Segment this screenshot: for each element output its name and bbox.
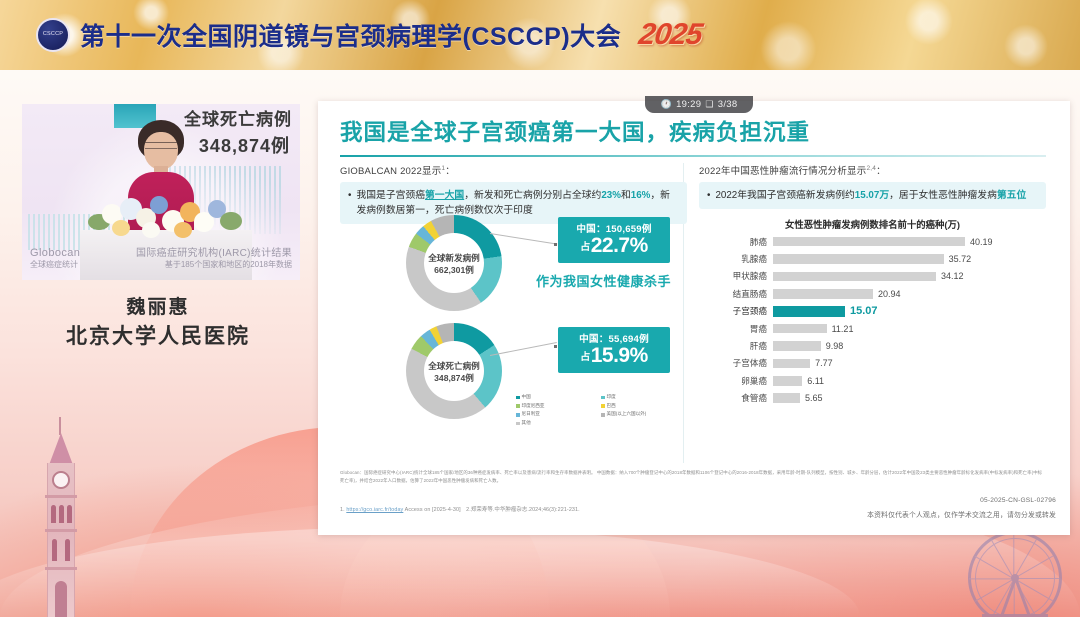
callout-percent: 15.9% <box>591 344 648 367</box>
right-column: 2022年中国恶性肿瘤流行情况分析显示2,4： • 2022年我国子宫颈癌新发病… <box>699 163 1046 463</box>
left-heading-colon: ： <box>445 166 455 177</box>
bullet-segment: 第一大国 <box>425 190 464 201</box>
callout-prefix: 占 <box>580 242 590 253</box>
slide-title: 我国是全球子宫颈癌第一大国，疾病负担沉重 <box>340 115 1046 147</box>
callout-mortality: 中国：55,694例 占15.9% <box>558 327 670 373</box>
bullet-segment: 2022年我国子宫颈癌新发病例约 <box>715 190 854 201</box>
bullet-segment: 16% <box>631 190 651 201</box>
bar-fill <box>773 393 800 403</box>
donut-chart-mortality-label: 全球死亡病例 348,874例 <box>406 361 502 384</box>
bar-track: 9.98 <box>773 337 1046 354</box>
slide-icon: ❑ <box>705 99 713 110</box>
bullet-segment: 我国是子宫颈癌 <box>356 190 425 201</box>
right-heading-superscript: 2,4 <box>866 165 876 172</box>
legend-label: 其他 <box>522 419 531 428</box>
event-year: 2025 <box>637 18 705 52</box>
legend-label: 印度 <box>607 393 616 402</box>
speaker-organization: 北京大学人民医院 <box>8 320 308 350</box>
callout-incidence: 中国：150,659例 占22.7% <box>558 217 670 263</box>
right-bullet-box: • 2022年我国子宫颈癌新发病例约15.07万，居于女性恶性肿瘤发病第五位 <box>699 182 1046 209</box>
bar-track: 11.21 <box>773 320 1046 337</box>
bar-category-label: 结直肠癌 <box>699 288 773 300</box>
bar-fill <box>773 289 873 299</box>
bar-value-label: 15.07 <box>850 305 878 317</box>
photo-credit-left-main: Globocan <box>30 247 80 259</box>
bar-track: 6.11 <box>773 372 1046 389</box>
bar-category-label: 肝癌 <box>699 340 773 352</box>
legend-label: 美国(以上六国以外) <box>607 410 647 419</box>
callout-prefix: 占 <box>580 352 590 363</box>
callout-incidence-top: 中国：150,659例 <box>558 217 670 235</box>
legend-label: 尼日利亚 <box>522 410 540 419</box>
bar-value-label: 5.65 <box>805 393 823 403</box>
right-column-heading: 2022年中国恶性肿瘤流行情况分析显示2,4： <box>699 163 1046 177</box>
bar-category-label: 子宫颈癌 <box>699 305 773 317</box>
elapsed-time: 19:29 <box>676 99 701 110</box>
bar-category-label: 胃癌 <box>699 323 773 335</box>
bullet-segment: 23% <box>601 190 621 201</box>
photo-credit-right-main: 国际癌症研究机构(IARC)统计结果 <box>136 248 292 259</box>
bar-chart-row: 卵巢癌6.11 <box>699 372 1046 389</box>
bar-value-label: 34.12 <box>941 271 964 281</box>
bar-fill <box>773 324 827 334</box>
legend-label: 印度尼西亚 <box>522 402 545 411</box>
bullet-segment: ，新发和死亡病例分别占全球约 <box>464 190 601 201</box>
bullet-segment: 15.07万 <box>855 190 889 201</box>
bar-value-label: 40.19 <box>970 237 993 247</box>
bar-chart-row: 乳腺癌35.72 <box>699 250 1046 267</box>
speaker-name: 魏丽惠 <box>8 292 308 319</box>
donut-legend: 中国印度印度尼西亚巴西尼日利亚美国(以上六国以外)其他 <box>516 393 686 428</box>
callout-percent: 22.7% <box>591 234 648 257</box>
donut-center-line2: 348,874例 <box>406 373 502 385</box>
bar-category-label: 食管癌 <box>699 392 773 404</box>
reference-rest: Access on [2025-4-30] 2.郑荣寿等.中华肿瘤杂志.2024… <box>403 507 579 513</box>
bar-track: 5.65 <box>773 390 1046 407</box>
bar-chart-row: 食管癌5.65 <box>699 390 1046 407</box>
disclaimer-text: 本资料仅代表个人观点，仅作学术交流之用，请勿分发或转发 <box>867 509 1056 519</box>
bullet-segment: 和 <box>621 190 631 201</box>
left-column: GIOBALCAN 2022显示1： • 我国是子宫颈癌第一大国，新发和死亡病例… <box>340 163 687 463</box>
clock-icon: 🕐 <box>661 99 673 110</box>
donut-center-line1: 全球死亡病例 <box>406 361 502 373</box>
photo-credit-left: Globocan 全球癌症统计 <box>30 247 80 270</box>
bar-value-label: 9.98 <box>826 341 844 351</box>
legend-label: 巴西 <box>607 402 616 411</box>
event-title: 第十一次全国阴道镜与宫颈病理学(CSCCP)大会 <box>80 17 621 53</box>
right-heading-colon: ： <box>876 166 886 177</box>
reference-index: 1. <box>340 507 345 513</box>
bar-chart-row: 肺癌40.19 <box>699 233 1046 250</box>
flower-arrangement <box>84 192 248 242</box>
bar-track: 40.19 <box>773 233 1046 250</box>
bullet-dot: • <box>707 188 710 203</box>
reference-link[interactable]: https://gco.iarc.fr/today <box>346 507 403 513</box>
slide-columns: GIOBALCAN 2022显示1： • 我国是子宫颈癌第一大国，新发和死亡病例… <box>340 163 1046 463</box>
legend-swatch <box>516 413 520 417</box>
player-status-bar[interactable]: 🕐 19:29 ❑ 3/38 <box>645 96 753 113</box>
bar-fill <box>773 376 802 386</box>
legend-swatch <box>516 422 520 426</box>
legend-swatch <box>601 404 605 408</box>
bar-value-label: 11.21 <box>832 324 854 334</box>
bar-category-label: 甲状腺癌 <box>699 270 773 282</box>
bar-value-label: 6.11 <box>807 376 824 386</box>
speaker-panel: 全球死亡病例 348,874例 <box>8 96 308 366</box>
slide-reference: 1. https://gco.iarc.fr/today Access on [… <box>340 505 770 513</box>
left-column-heading: GIOBALCAN 2022显示1： <box>340 163 687 177</box>
bar-fill <box>773 359 810 369</box>
killer-statement: 作为我国女性健康杀手 <box>536 271 686 290</box>
legend-item: 美国(以上六国以外) <box>601 410 686 419</box>
photo-credit-right-sub: 基于185个国家和地区的2018年数据 <box>136 259 292 270</box>
donut-center-line1: 全球新发病例 <box>406 253 502 265</box>
legend-item: 其他 <box>516 419 601 428</box>
legend-item: 尼日利亚 <box>516 410 601 419</box>
bar-category-label: 子宫体癌 <box>699 357 773 369</box>
title-divider <box>340 155 1046 157</box>
leader-dot <box>554 345 557 348</box>
csccp-logo-text: CSCCP <box>43 32 63 38</box>
bar-track: 20.94 <box>773 285 1046 302</box>
leader-dot <box>554 243 557 246</box>
bar-chart-row: 肝癌9.98 <box>699 337 1046 354</box>
legend-label: 中国 <box>522 393 531 402</box>
bar-fill <box>773 306 845 317</box>
document-code: 05-2025-CN-GSL-02796 <box>980 497 1056 504</box>
bar-chart: 肺癌40.19乳腺癌35.72甲状腺癌34.12结直肠癌20.94子宫颈癌15.… <box>699 233 1046 407</box>
clock-tower-icon <box>43 417 79 617</box>
callout-mortality-top: 中国：55,694例 <box>558 327 670 345</box>
slide-canvas[interactable]: 我国是全球子宫颈癌第一大国，疾病负担沉重 GIOBALCAN 2022显示1： … <box>318 101 1070 535</box>
legend-item: 印度尼西亚 <box>516 402 601 411</box>
legend-item: 巴西 <box>601 402 686 411</box>
legend-swatch <box>516 396 520 400</box>
legend-item: 印度 <box>601 393 686 402</box>
bullet-segment: ，居于女性恶性肿瘤发病 <box>889 190 997 201</box>
bar-value-label: 35.72 <box>949 254 972 264</box>
bar-chart-row: 甲状腺癌34.12 <box>699 268 1046 285</box>
legend-swatch <box>601 396 605 400</box>
page-indicator: 3/38 <box>718 99 738 110</box>
legend-item: 中国 <box>516 393 601 402</box>
right-bullet-text: 2022年我国子宫颈癌新发病例约15.07万，居于女性恶性肿瘤发病第五位 <box>715 188 1026 203</box>
legend-swatch <box>516 404 520 408</box>
bar-fill <box>773 341 821 351</box>
left-heading-text: GIOBALCAN 2022显示 <box>340 166 441 177</box>
ferris-wheel-icon <box>960 531 1070 617</box>
bar-fill <box>773 237 965 247</box>
bar-value-label: 7.77 <box>815 358 833 368</box>
bar-track: 15.07 <box>773 303 1046 320</box>
bar-chart-row: 子宫体癌7.77 <box>699 355 1046 372</box>
bar-track: 7.77 <box>773 355 1046 372</box>
bullet-segment: 第五位 <box>997 190 1026 201</box>
legend-swatch <box>601 413 605 417</box>
slide-footnote: Globocan：国际癌症研究中心(IARC)统计全球185个国家/地区的36种… <box>340 469 1046 485</box>
callout-mortality-value: 占15.9% <box>558 346 670 366</box>
screen: CSCCP 第十一次全国阴道镜与宫颈病理学(CSCCP)大会 2025 <box>0 0 1080 617</box>
slide-header: 我国是全球子宫颈癌第一大国，疾病负担沉重 <box>340 115 1046 157</box>
photo-credit-right: 国际癌症研究机构(IARC)统计结果 基于185个国家和地区的2018年数据 <box>136 244 292 270</box>
donut-charts: 全球新发病例 662,301例 中国：150,659例 占22.7% 作为我国女… <box>340 215 687 415</box>
bar-category-label: 乳腺癌 <box>699 253 773 265</box>
right-heading-text: 2022年中国恶性肿瘤流行情况分析显示 <box>699 166 866 177</box>
bar-chart-row: 子宫颈癌15.07 <box>699 303 1046 320</box>
bar-value-label: 20.94 <box>878 289 901 299</box>
bar-chart-row: 胃癌11.21 <box>699 320 1046 337</box>
speaker-video-thumbnail[interactable]: 全球死亡病例 348,874例 <box>22 104 300 280</box>
bullet-dot: • <box>348 188 351 218</box>
csccp-logo-icon: CSCCP <box>36 18 70 52</box>
donut-center-line2: 662,301例 <box>406 265 502 277</box>
bar-category-label: 肺癌 <box>699 236 773 248</box>
bar-chart-row: 结直肠癌20.94 <box>699 285 1046 302</box>
photo-credit-left-sub: 全球癌症统计 <box>30 259 80 270</box>
leader-line <box>490 233 557 245</box>
bar-fill <box>773 254 944 264</box>
bar-chart-title: 女性恶性肿瘤发病例数排名前十的癌种(万) <box>699 217 1046 231</box>
bar-category-label: 卵巢癌 <box>699 375 773 387</box>
donut-chart-incidence-label: 全球新发病例 662,301例 <box>406 253 502 276</box>
bar-track: 34.12 <box>773 268 1046 285</box>
left-bullet-text: 我国是子宫颈癌第一大国，新发和死亡病例分别占全球约23%和16%，新发病例数居第… <box>356 188 679 218</box>
bar-fill <box>773 272 936 282</box>
event-banner: CSCCP 第十一次全国阴道镜与宫颈病理学(CSCCP)大会 2025 <box>0 0 1080 70</box>
callout-incidence-value: 占22.7% <box>558 236 670 256</box>
leader-line <box>490 342 557 356</box>
bar-track: 35.72 <box>773 250 1046 267</box>
